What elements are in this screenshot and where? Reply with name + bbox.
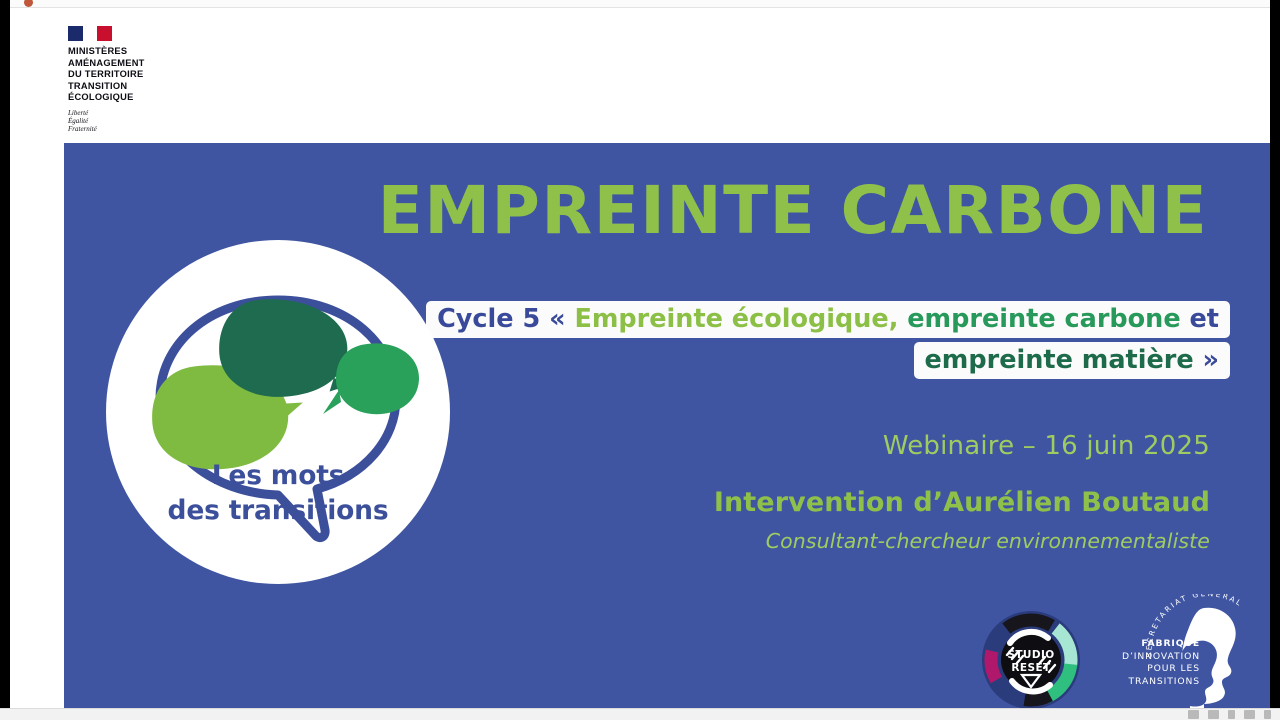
speech-bubbles-icon xyxy=(106,240,450,584)
studio-reset-logo: STUDIO RESET xyxy=(982,611,1080,709)
ministry-name: MINISTÈRES AMÉNAGEMENT DU TERRITOIRE TRA… xyxy=(68,46,238,104)
fabrique-line-0: FABRIQUE xyxy=(1100,638,1200,651)
webinar-date: Webinaire – 16 juin 2025 xyxy=(714,431,1210,461)
taskbar-icon-3[interactable] xyxy=(1228,710,1235,719)
taskbar-icon-1[interactable] xyxy=(1188,710,1199,719)
fabrique-text: FABRIQUE D’INNOVATION POUR LES TRANSITIO… xyxy=(1100,638,1200,688)
studio-reset-line-1: STUDIO xyxy=(1007,649,1054,661)
mots-label-line-1: Les mots xyxy=(106,458,450,493)
subtitle-seg-cycle: Cycle 5 « xyxy=(437,304,574,334)
taskbar-icon-2[interactable] xyxy=(1208,710,1219,719)
taskbar-icon-4[interactable] xyxy=(1244,710,1255,719)
slide-body: EMPREINTE CARBONE Cycle 5 « Empreinte éc… xyxy=(64,143,1272,712)
studio-reset-line-2: RESET xyxy=(1011,662,1051,674)
ministry-line-3: TRANSITION xyxy=(68,81,238,93)
browser-top-chrome[interactable] xyxy=(0,0,1280,8)
subtitle-seg-carbone: empreinte carbone xyxy=(907,304,1189,334)
slide-page: MINISTÈRES AMÉNAGEMENT DU TERRITOIRE TRA… xyxy=(10,8,1272,712)
speaker-role: Consultant-chercheur environnementaliste xyxy=(714,529,1210,553)
mots-des-transitions-logo: Les mots des transitions xyxy=(106,240,450,584)
taskbar-icon-5[interactable] xyxy=(1264,710,1271,719)
subtitle-line-2: empreinte matière » xyxy=(914,342,1230,379)
fabrique-line-1: D’INNOVATION xyxy=(1100,651,1200,664)
subtitle-seg-matiere: empreinte matière xyxy=(925,345,1203,375)
speaker-name: Intervention d’Aurélien Boutaud xyxy=(714,488,1210,518)
browser-favicon-icon xyxy=(24,0,33,7)
ministry-line-2: DU TERRITOIRE xyxy=(68,69,238,81)
french-flag-icon xyxy=(68,26,112,41)
left-letterbox xyxy=(0,0,10,720)
ministry-line-0: MINISTÈRES xyxy=(68,46,238,58)
mots-logo-label: Les mots des transitions xyxy=(106,458,450,528)
slide-subtitle: Cycle 5 « Empreinte écologique, empreint… xyxy=(394,301,1230,381)
screen: MINISTÈRES AMÉNAGEMENT DU TERRITOIRE TRA… xyxy=(0,0,1280,720)
subtitle-line-1: Cycle 5 « Empreinte écologique, empreint… xyxy=(426,301,1230,338)
page-title: EMPREINTE CARBONE xyxy=(358,176,1228,246)
webinar-info: Webinaire – 16 juin 2025 Intervention d’… xyxy=(714,431,1210,553)
fabrique-line-2: POUR LES xyxy=(1100,663,1200,676)
motto-line-0: Liberté xyxy=(68,109,238,117)
mots-label-line-2: des transitions xyxy=(106,493,450,528)
subtitle-seg-quote-close: » xyxy=(1203,345,1219,375)
ministry-line-4: ÉCOLOGIQUE xyxy=(68,92,238,104)
subtitle-seg-et: et xyxy=(1190,304,1219,334)
republic-motto: Liberté Égalité Fraternité xyxy=(68,109,238,134)
fabrique-innovation-logo: SECRETARIAT GENERAL FABRIQUE D’INNOVATIO… xyxy=(1100,598,1250,708)
subtitle-seg-ecologique: Empreinte écologique, xyxy=(574,304,907,334)
taskbar[interactable] xyxy=(0,708,1280,720)
studio-reset-icon: STUDIO RESET xyxy=(982,611,1080,709)
right-letterbox xyxy=(1270,0,1280,720)
ministry-logo: MINISTÈRES AMÉNAGEMENT DU TERRITOIRE TRA… xyxy=(68,26,238,134)
fabrique-line-3: TRANSITIONS xyxy=(1100,676,1200,689)
ministry-line-1: AMÉNAGEMENT xyxy=(68,58,238,70)
motto-line-1: Égalité xyxy=(68,117,238,125)
motto-line-2: Fraternité xyxy=(68,125,238,133)
